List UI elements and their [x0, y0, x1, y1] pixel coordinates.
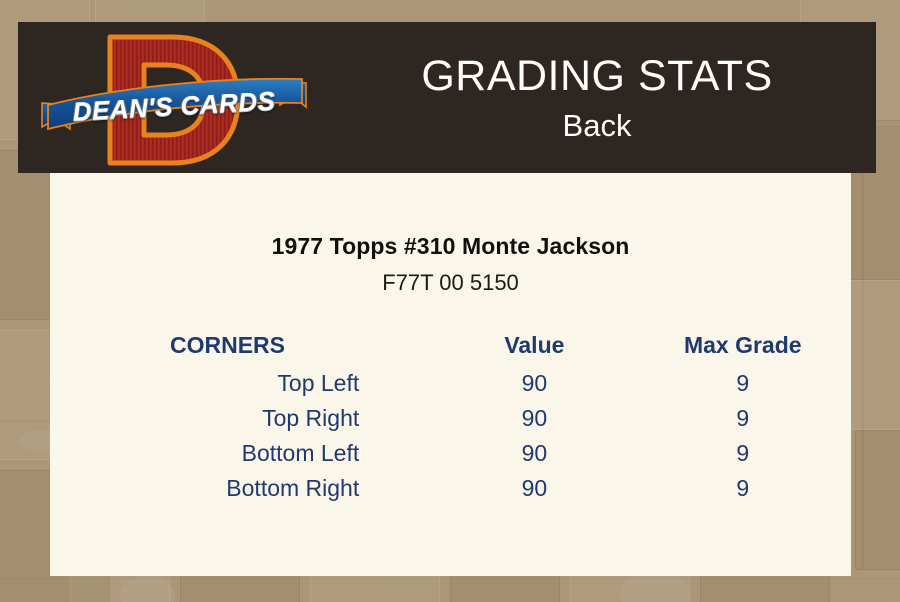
- card-title: 1977 Topps #310 Monte Jackson: [50, 233, 851, 260]
- table-row: Bottom Right 90 9: [50, 471, 851, 506]
- page-title: GRADING STATS: [421, 51, 772, 101]
- row-value: 90: [434, 471, 634, 506]
- row-max-grade: 9: [635, 366, 852, 401]
- table-row: Top Left 90 9: [50, 366, 851, 401]
- row-max-grade: 9: [635, 436, 852, 471]
- table-body: Top Left 90 9 Top Right 90 9 Bottom Left…: [50, 366, 851, 506]
- table-header-row: CORNERS Value Max Grade: [50, 328, 851, 366]
- column-header-value: Value: [434, 328, 634, 366]
- card-identifier: F77T 00 5150: [50, 270, 851, 296]
- column-header-corners: CORNERS: [50, 328, 434, 366]
- content-panel: 1977 Topps #310 Monte Jackson F77T 00 51…: [50, 173, 851, 576]
- row-label: Top Left: [50, 366, 434, 401]
- grading-stats-panel: DEAN'S CARDS GRADING STATS Back 1977 Top…: [18, 22, 876, 576]
- row-label: Bottom Left: [50, 436, 434, 471]
- row-max-grade: 9: [635, 471, 852, 506]
- page-subtitle: Back: [563, 107, 632, 145]
- row-value: 90: [434, 401, 634, 436]
- table-header: CORNERS Value Max Grade: [50, 328, 851, 366]
- row-max-grade: 9: [635, 401, 852, 436]
- header-bar: DEAN'S CARDS GRADING STATS Back: [18, 22, 876, 173]
- table-row: Bottom Left 90 9: [50, 436, 851, 471]
- row-label: Top Right: [50, 401, 434, 436]
- header-titles: GRADING STATS Back: [318, 22, 876, 173]
- grading-stats-table: CORNERS Value Max Grade Top Left 90 9 To…: [50, 328, 851, 506]
- table-row: Top Right 90 9: [50, 401, 851, 436]
- row-label: Bottom Right: [50, 471, 434, 506]
- row-value: 90: [434, 366, 634, 401]
- row-value: 90: [434, 436, 634, 471]
- column-header-max-grade: Max Grade: [635, 328, 852, 366]
- deans-cards-logo[interactable]: DEAN'S CARDS: [40, 27, 308, 172]
